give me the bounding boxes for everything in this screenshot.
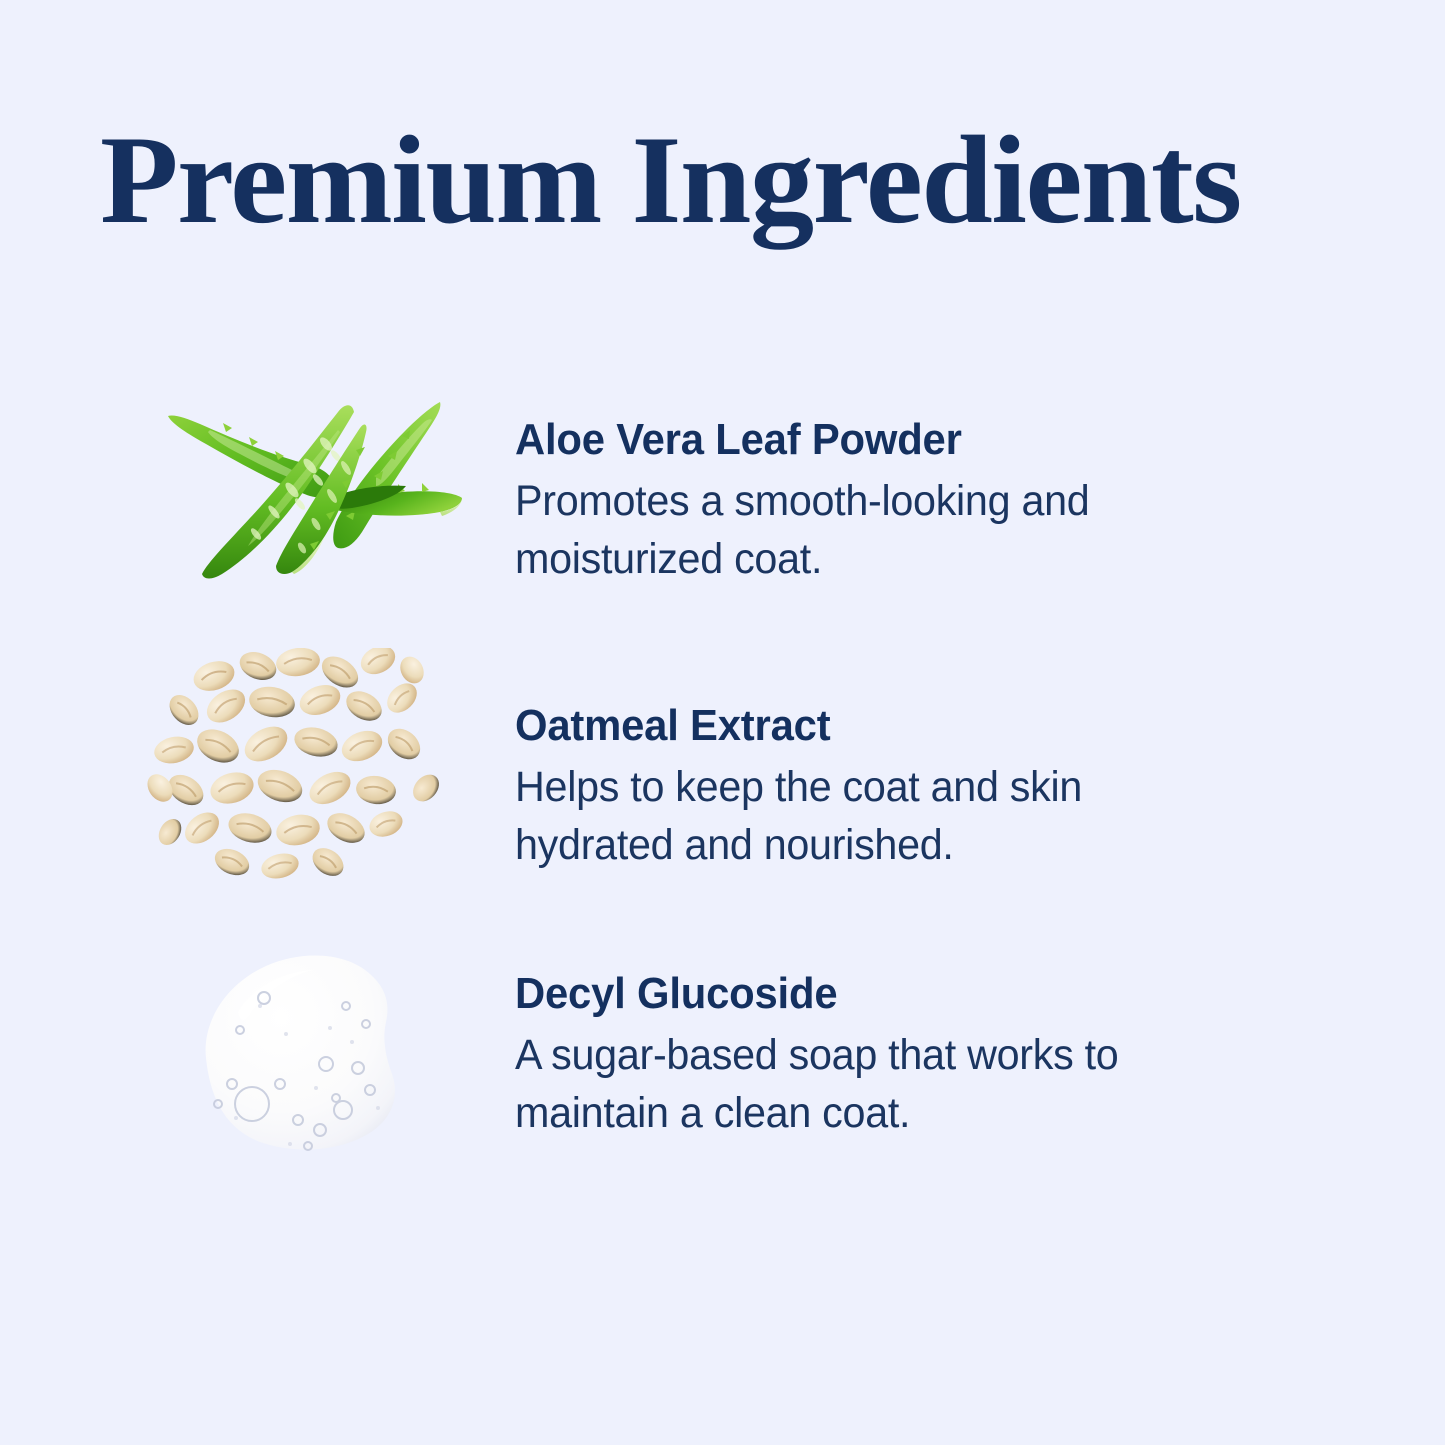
gel-droplet-icon	[140, 938, 470, 1168]
ingredient-item-oatmeal-extract: Oatmeal Extract Helps to keep the coat a…	[140, 648, 1320, 898]
ingredient-item-decyl-glucoside: Decyl Glucoside A sugar-based soap that …	[140, 938, 1320, 1168]
aloe-vera-leaves-icon	[140, 392, 470, 582]
ingredient-name: Oatmeal Extract	[515, 700, 1280, 752]
ingredient-description: A sugar-based soap that works to maintai…	[515, 1026, 1245, 1142]
ingredient-name: Aloe Vera Leaf Powder	[515, 414, 1280, 466]
oat-flakes-icon	[140, 648, 470, 898]
ingredient-item-aloe-vera-leaf-powder: Aloe Vera Leaf Powder Promotes a smooth-…	[140, 392, 1320, 588]
ingredient-text-block: Decyl Glucoside A sugar-based soap that …	[470, 938, 1320, 1142]
ingredients-infographic: Premium Ingredients	[0, 0, 1445, 1445]
ingredient-text-block: Oatmeal Extract Helps to keep the coat a…	[470, 648, 1320, 874]
ingredient-description: Helps to keep the coat and skin hydrated…	[515, 758, 1187, 874]
ingredient-description: Promotes a smooth-looking and moisturize…	[515, 472, 1197, 588]
ingredient-list: Aloe Vera Leaf Powder Promotes a smooth-…	[0, 0, 1445, 1445]
ingredient-name: Decyl Glucoside	[515, 968, 1280, 1020]
ingredient-text-block: Aloe Vera Leaf Powder Promotes a smooth-…	[470, 392, 1320, 588]
